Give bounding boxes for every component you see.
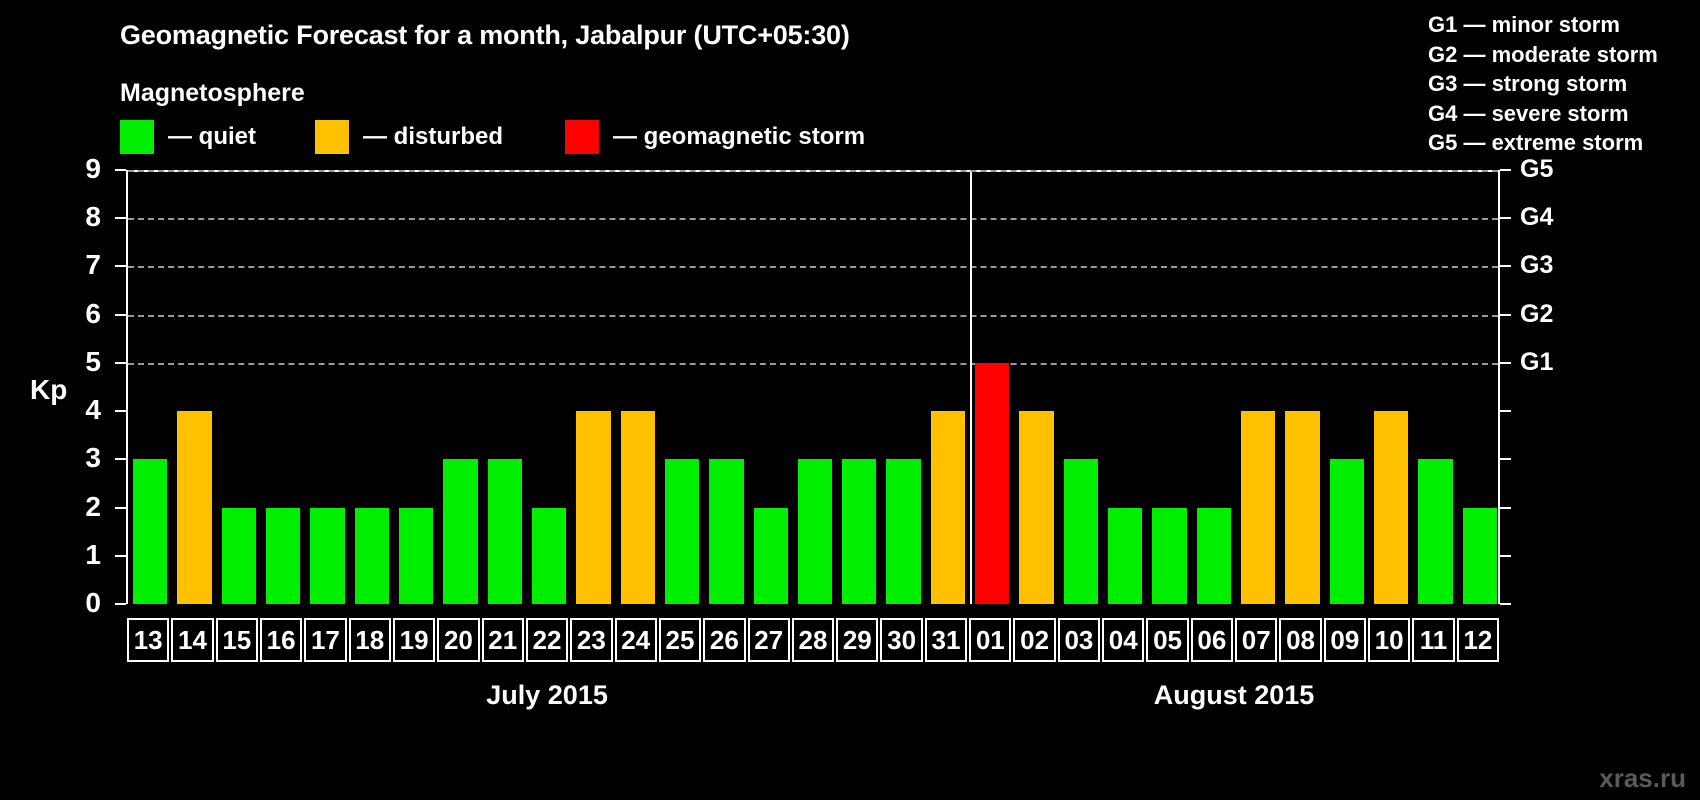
date-label-29[interactable]: 29 (836, 618, 878, 662)
g-tick-8 (1500, 217, 1511, 219)
bar-19 (399, 508, 433, 604)
y-tick-6 (115, 314, 126, 316)
bar-06 (1197, 508, 1231, 604)
legend-item-quiet: — quiet (120, 120, 256, 154)
bar-22 (532, 508, 566, 604)
g-axis-label-G5: G5 (1520, 157, 1600, 182)
g-tick-1 (1500, 555, 1511, 557)
date-label-30[interactable]: 30 (880, 618, 922, 662)
y-tick-5 (115, 362, 126, 364)
bar-15 (222, 508, 256, 604)
g-scale-row-4: G4 — severe storm (1428, 99, 1688, 129)
bar-10 (1374, 411, 1408, 604)
y-tick-1 (115, 555, 126, 557)
y-tick-label-8: 8 (41, 203, 101, 231)
disturbed-swatch (315, 120, 349, 154)
date-label-19[interactable]: 19 (393, 618, 435, 662)
date-label-06[interactable]: 06 (1191, 618, 1233, 662)
date-label-24[interactable]: 24 (615, 618, 657, 662)
y-tick-8 (115, 217, 126, 219)
g-tick-9 (1500, 169, 1511, 171)
date-label-07[interactable]: 07 (1235, 618, 1277, 662)
bar-02 (1019, 411, 1053, 604)
date-label-31[interactable]: 31 (925, 618, 967, 662)
g-scale-row-1: G1 — minor storm (1428, 10, 1688, 40)
bar-27 (754, 508, 788, 604)
bar-08 (1285, 411, 1319, 604)
g-tick-3 (1500, 458, 1511, 460)
y-tick-label-9: 9 (41, 155, 101, 183)
g-axis-label-G2: G2 (1520, 302, 1600, 327)
date-label-22[interactable]: 22 (526, 618, 568, 662)
date-label-08[interactable]: 08 (1279, 618, 1321, 662)
date-label-21[interactable]: 21 (482, 618, 524, 662)
date-label-20[interactable]: 20 (437, 618, 479, 662)
date-label-14[interactable]: 14 (171, 618, 213, 662)
g-scale-row-2: G2 — moderate storm (1428, 40, 1688, 70)
date-label-26[interactable]: 26 (703, 618, 745, 662)
date-label-28[interactable]: 28 (792, 618, 834, 662)
y-tick-7 (115, 265, 126, 267)
storm-swatch (565, 120, 599, 154)
bar-17 (310, 508, 344, 604)
bar-01 (975, 363, 1009, 604)
bar-series (128, 172, 1498, 604)
y-tick-3 (115, 458, 126, 460)
date-label-16[interactable]: 16 (260, 618, 302, 662)
bar-28 (798, 459, 832, 604)
y-axis-title: Kp (30, 374, 67, 406)
bar-20 (443, 459, 477, 604)
date-label-05[interactable]: 05 (1146, 618, 1188, 662)
date-label-25[interactable]: 25 (659, 618, 701, 662)
watermark: xras.ru (1599, 763, 1686, 794)
g-tick-6 (1500, 314, 1511, 316)
g-tick-7 (1500, 265, 1511, 267)
legend-label: — disturbed (363, 123, 503, 151)
bar-24 (621, 411, 655, 604)
date-label-10[interactable]: 10 (1368, 618, 1410, 662)
y-tick-label-1: 1 (41, 541, 101, 569)
page-title: Geomagnetic Forecast for a month, Jabalp… (120, 20, 850, 51)
y-tick-label-5: 5 (41, 348, 101, 376)
g-axis-label-G4: G4 (1520, 205, 1600, 230)
bar-29 (842, 459, 876, 604)
y-tick-2 (115, 507, 126, 509)
date-label-11[interactable]: 11 (1412, 618, 1454, 662)
date-label-27[interactable]: 27 (748, 618, 790, 662)
date-label-04[interactable]: 04 (1102, 618, 1144, 662)
g-scale-row-3: G3 — strong storm (1428, 69, 1688, 99)
g-scale-legend: G1 — minor stormG2 — moderate stormG3 — … (1428, 10, 1688, 158)
y-tick-4 (115, 410, 126, 412)
date-label-18[interactable]: 18 (349, 618, 391, 662)
date-label-13[interactable]: 13 (127, 618, 169, 662)
date-label-15[interactable]: 15 (216, 618, 258, 662)
g-axis-label-G3: G3 (1520, 253, 1600, 278)
bar-23 (576, 411, 610, 604)
date-label-02[interactable]: 02 (1013, 618, 1055, 662)
month-label-august: August 2015 (968, 680, 1500, 711)
g-tick-4 (1500, 410, 1511, 412)
bar-03 (1064, 459, 1098, 604)
y-tick-label-7: 7 (41, 251, 101, 279)
y-tick-9 (115, 169, 126, 171)
bar-11 (1418, 459, 1452, 604)
month-label-july: July 2015 (126, 680, 968, 711)
g-scale-row-5: G5 — extreme storm (1428, 128, 1688, 158)
bar-12 (1463, 508, 1497, 604)
g-tick-0 (1500, 603, 1511, 605)
bar-26 (709, 459, 743, 604)
bar-13 (133, 459, 167, 604)
y-tick-label-2: 2 (41, 493, 101, 521)
legend-label: — quiet (168, 123, 256, 151)
legend-item-disturbed: — disturbed (315, 120, 503, 154)
date-label-09[interactable]: 09 (1324, 618, 1366, 662)
bar-05 (1152, 508, 1186, 604)
bar-25 (665, 459, 699, 604)
y-tick-label-6: 6 (41, 300, 101, 328)
g-axis-label-G1: G1 (1520, 350, 1600, 375)
bar-21 (488, 459, 522, 604)
y-tick-label-0: 0 (41, 589, 101, 617)
magnetosphere-label: Magnetosphere (120, 79, 305, 108)
date-label-12[interactable]: 12 (1457, 618, 1499, 662)
chart-plot-area (126, 170, 1500, 604)
y-tick-0 (115, 603, 126, 605)
bar-04 (1108, 508, 1142, 604)
bar-18 (355, 508, 389, 604)
bar-09 (1330, 459, 1364, 604)
legend-label: — geomagnetic storm (613, 123, 865, 151)
bar-31 (931, 411, 965, 604)
date-label-23[interactable]: 23 (570, 618, 612, 662)
bar-07 (1241, 411, 1275, 604)
date-label-03[interactable]: 03 (1058, 618, 1100, 662)
quiet-swatch (120, 120, 154, 154)
bar-14 (177, 411, 211, 604)
date-axis: 1314151617181920212223242526272829303101… (126, 618, 1500, 662)
legend-item-storm: — geomagnetic storm (565, 120, 865, 154)
date-label-17[interactable]: 17 (304, 618, 346, 662)
g-tick-2 (1500, 507, 1511, 509)
bar-16 (266, 508, 300, 604)
g-tick-5 (1500, 362, 1511, 364)
bar-30 (886, 459, 920, 604)
date-label-01[interactable]: 01 (969, 618, 1011, 662)
y-tick-label-3: 3 (41, 444, 101, 472)
